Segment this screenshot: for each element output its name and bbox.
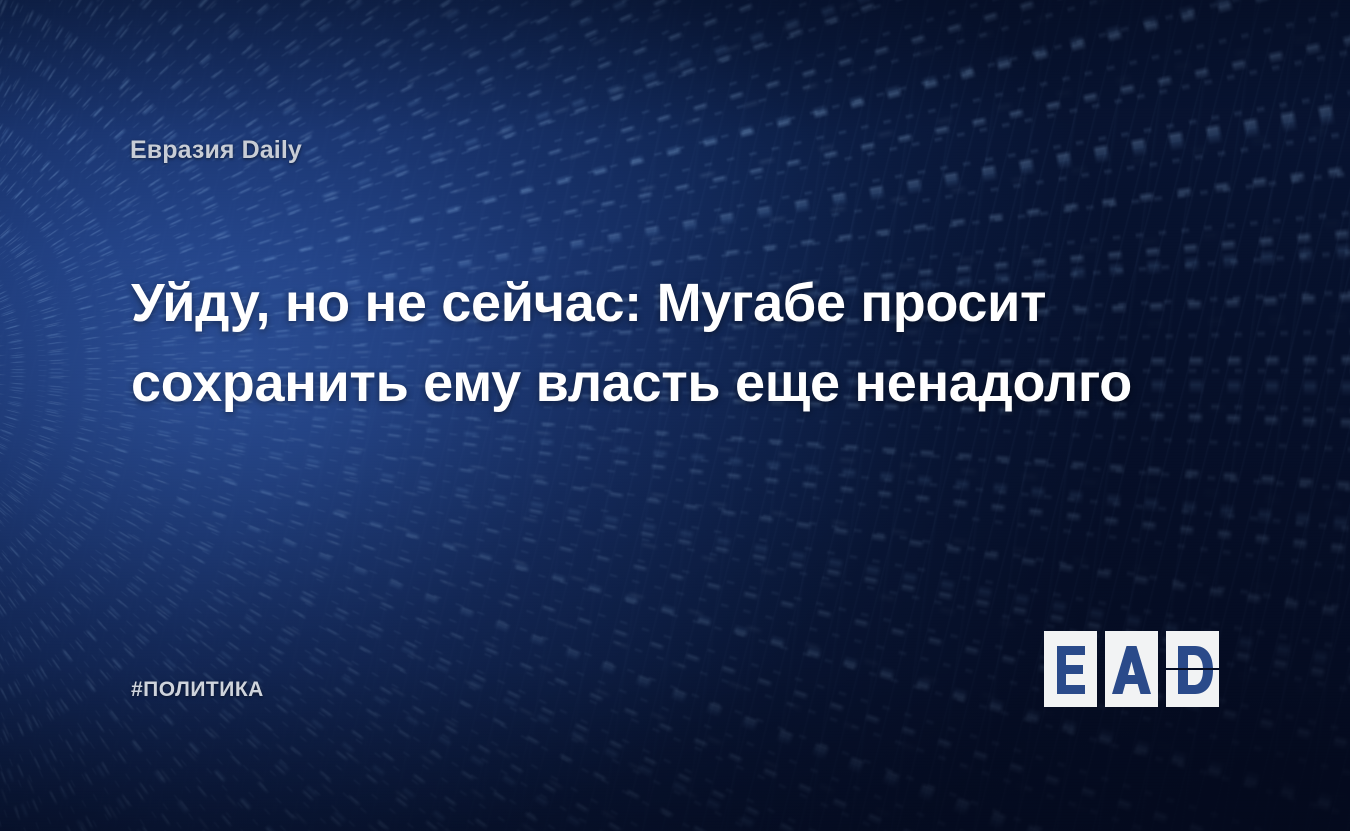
logo-letter-d-icon-lower: [1166, 670, 1219, 707]
brand-name: Евразия Daily: [130, 136, 302, 165]
logo-tile-a: [1105, 631, 1158, 707]
logo-tile-e: [1044, 631, 1097, 707]
logo-tile-d: [1166, 631, 1219, 707]
eadaily-logo[interactable]: [1044, 631, 1220, 707]
logo-letter-a-icon: [1105, 631, 1158, 707]
logo-tile-d-upper: [1166, 631, 1219, 668]
headline: Уйду, но не сейчас: Мугабе просит сохран…: [131, 263, 1191, 423]
logo-letter-d-icon-upper: [1166, 631, 1219, 668]
news-card: Евразия Daily Уйду, но не сейчас: Мугабе…: [0, 0, 1350, 831]
logo-tile-d-lower: [1166, 670, 1219, 707]
logo-letter-e-icon: [1044, 631, 1097, 707]
category-hashtag[interactable]: #ПОЛИТИКА: [131, 678, 264, 702]
card-content: Евразия Daily Уйду, но не сейчас: Мугабе…: [0, 0, 1350, 831]
